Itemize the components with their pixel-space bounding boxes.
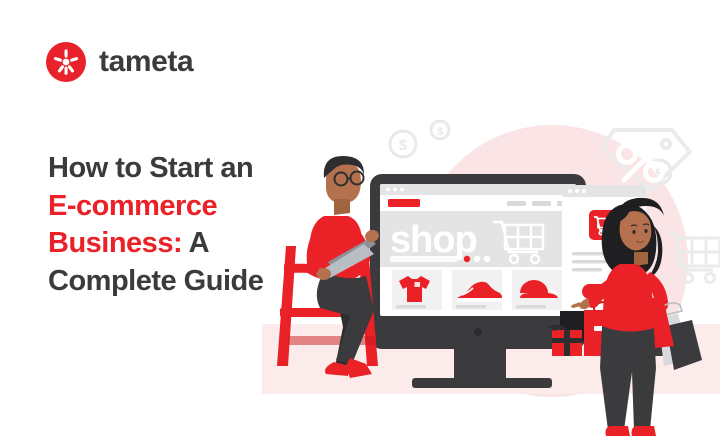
product-card[interactable] bbox=[392, 270, 442, 310]
carousel-dots[interactable] bbox=[464, 256, 490, 262]
ecommerce-illustration: $ $ $ bbox=[262, 86, 720, 438]
banner-canvas: tameta How to Start an E-commerce Busine… bbox=[0, 0, 720, 438]
svg-text:$: $ bbox=[437, 126, 443, 138]
brand-logo[interactable]: tameta bbox=[46, 42, 193, 82]
headline-line-3-red: Business: bbox=[48, 227, 182, 259]
browser-dots-icon bbox=[386, 188, 404, 192]
monitor-screen-content: shop bbox=[380, 184, 576, 310]
hero-word: shop bbox=[390, 219, 477, 261]
product-card[interactable] bbox=[452, 270, 502, 310]
site-logo-bar bbox=[388, 199, 420, 207]
product-card[interactable] bbox=[512, 270, 562, 310]
man-on-ladder-with-laptop bbox=[277, 156, 381, 378]
tameta-asterisk-logo-icon bbox=[46, 42, 86, 82]
card-browser-dots-icon bbox=[568, 189, 586, 193]
svg-text:$: $ bbox=[399, 137, 408, 154]
nav-placeholder[interactable] bbox=[532, 201, 551, 206]
nav-placeholder[interactable] bbox=[507, 201, 526, 206]
headline-line-3-dark: A bbox=[182, 227, 209, 259]
brand-wordmark: tameta bbox=[99, 47, 193, 77]
